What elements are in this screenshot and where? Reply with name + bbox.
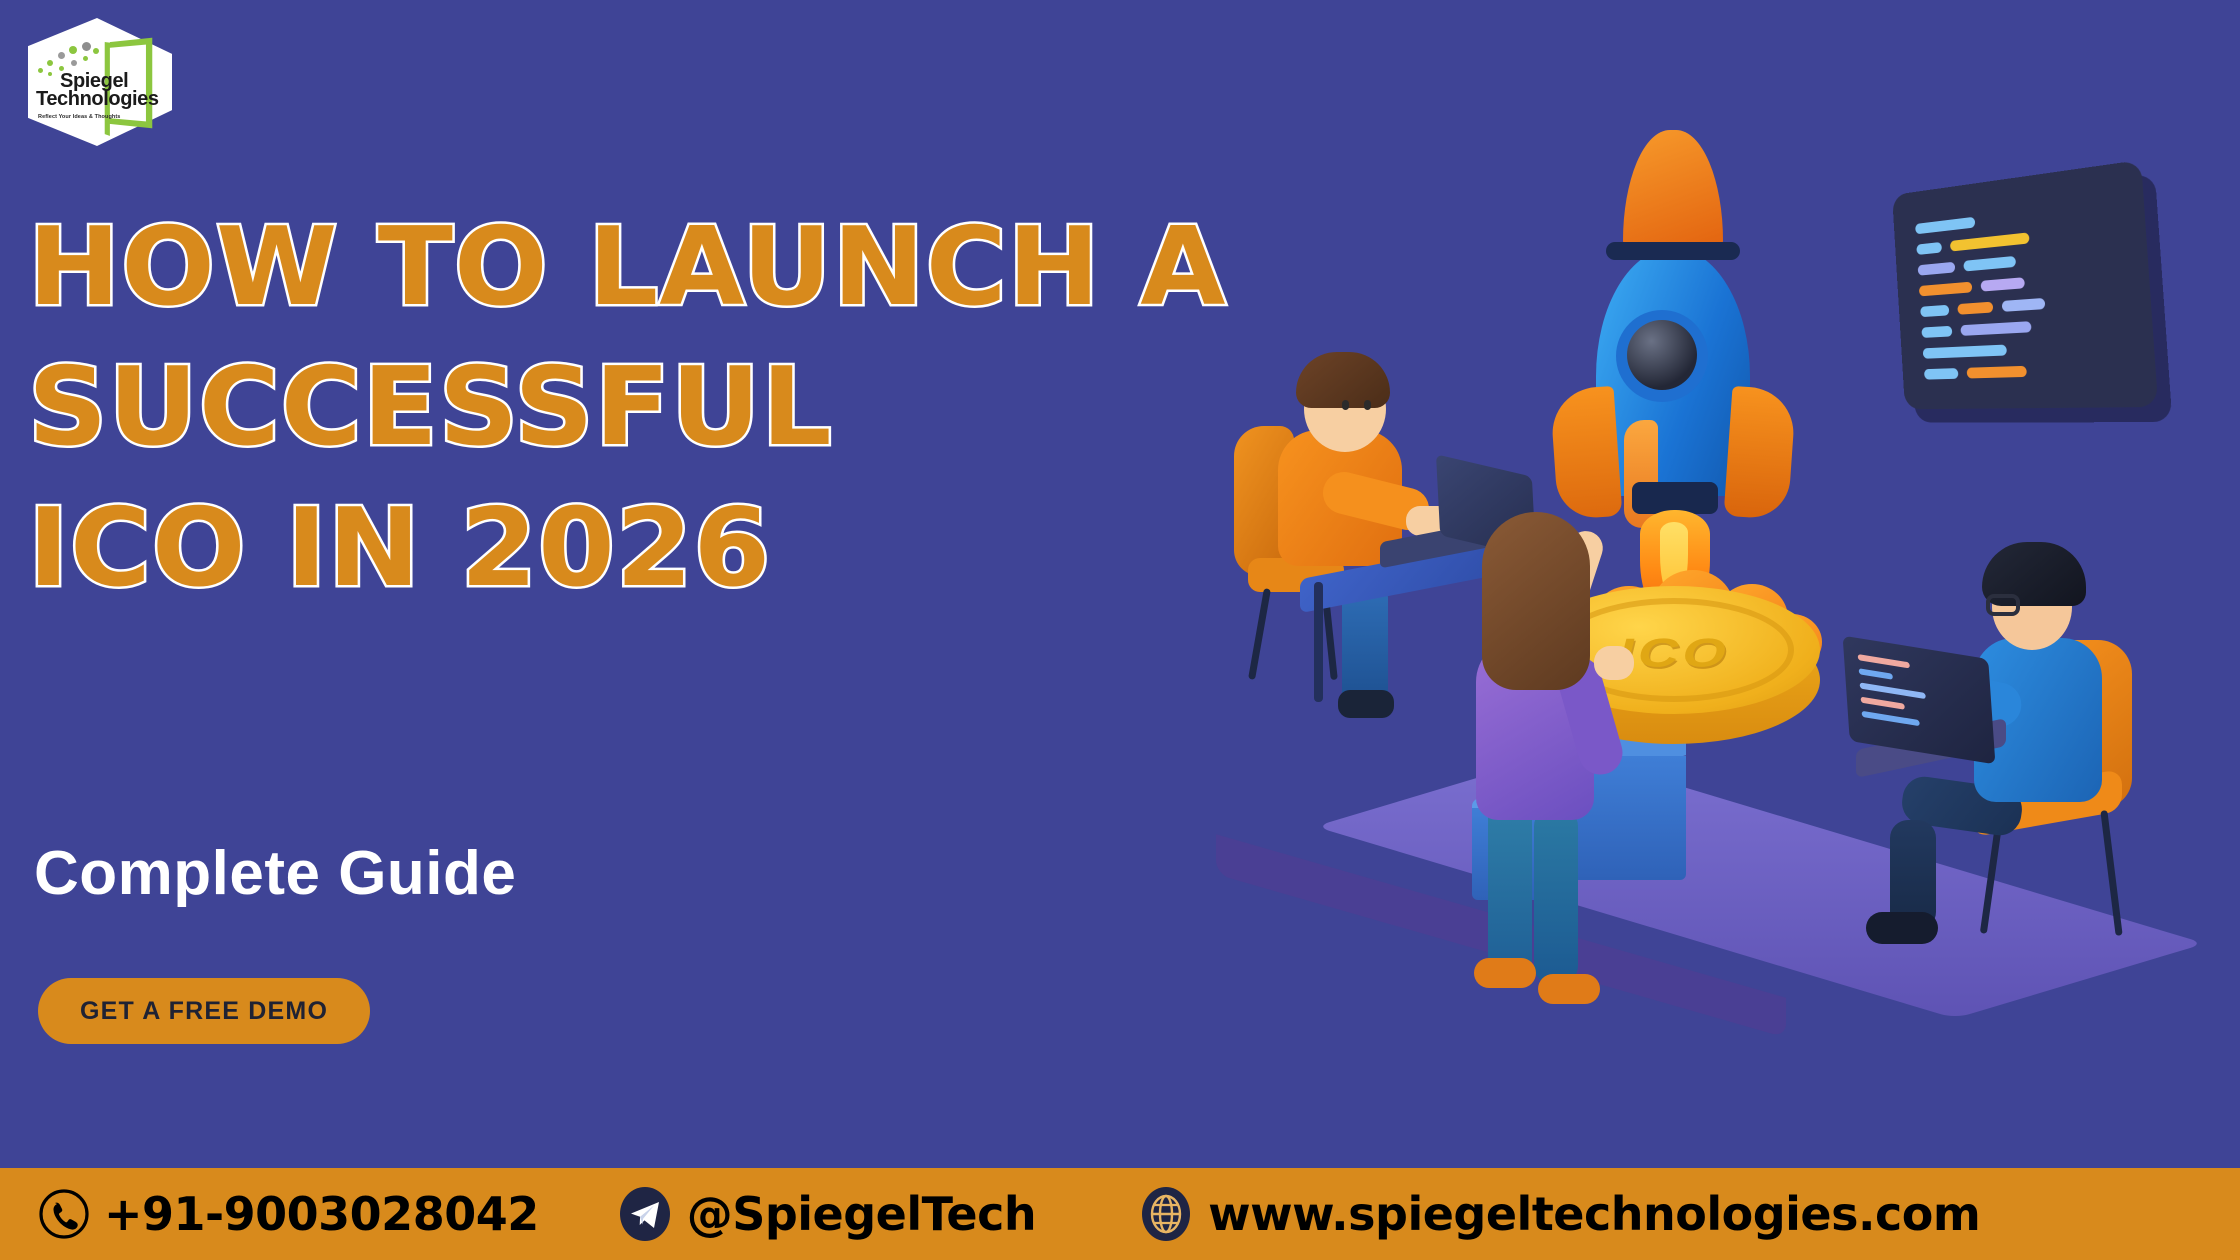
- person-hand-pointing: [1594, 646, 1634, 680]
- person-leg-right: [1534, 808, 1578, 984]
- chair-leg: [2100, 810, 2122, 936]
- rocket-porthole-glass: [1627, 320, 1697, 390]
- person-developer-blue: [1840, 520, 2180, 990]
- contact-phone[interactable]: +91-9003028042: [38, 1187, 539, 1241]
- rocket-collar: [1606, 242, 1740, 260]
- headline-line-2: SUCCESSFUL: [28, 338, 1109, 478]
- code-panel-icon: [1892, 160, 2158, 409]
- rocket-icon: [1548, 130, 1798, 550]
- telegram-icon: [617, 1186, 673, 1242]
- phone-number: +91-9003028042: [104, 1187, 539, 1241]
- hero-subtitle: Complete Guide: [34, 838, 516, 909]
- person-leg-left: [1488, 798, 1532, 978]
- glasses-icon: [1986, 594, 2020, 616]
- logo-name-line2: Technologies: [36, 90, 148, 108]
- person-woman-standing: [1442, 488, 1642, 1048]
- person-eye: [1364, 400, 1371, 410]
- hero-headline: HOW TO LAUNCH A SUCCESSFUL ICO IN 2026: [28, 198, 1088, 619]
- telegram-handle: @SpiegelTech: [687, 1187, 1036, 1241]
- person-shoe-left: [1474, 958, 1536, 988]
- logo-wordmark: Spiegel Technologies: [36, 72, 148, 109]
- brand-logo[interactable]: Spiegel Technologies Reflect Your Ideas …: [22, 18, 172, 146]
- get-free-demo-button[interactable]: GET A FREE DEMO: [38, 978, 370, 1044]
- headline-line-1: HOW TO LAUNCH A: [28, 198, 1109, 338]
- rocket-nose-cone: [1623, 130, 1723, 252]
- person-eye: [1342, 400, 1349, 410]
- website-url: www.spiegeltechnologies.com: [1208, 1187, 1980, 1241]
- person-shoe: [1866, 912, 1938, 944]
- contact-telegram[interactable]: @SpiegelTech: [617, 1186, 1036, 1242]
- person-shoe: [1338, 690, 1394, 718]
- ico-launch-illustration: ICO: [1180, 120, 2220, 1120]
- person-shoe-right: [1538, 974, 1600, 1004]
- chair-leg: [1248, 588, 1271, 680]
- contact-bar: +91-9003028042 @SpiegelTech www.spiegelt…: [0, 1168, 2240, 1260]
- person-hair: [1482, 512, 1590, 690]
- logo-tagline: Reflect Your Ideas & Thoughts: [38, 114, 150, 120]
- headline-line-3: ICO IN 2026: [28, 479, 1109, 619]
- globe-icon: [1138, 1186, 1194, 1242]
- rocket-fin-right: [1724, 386, 1797, 520]
- laptop-screen: [1843, 636, 1996, 765]
- contact-website[interactable]: www.spiegeltechnologies.com: [1138, 1186, 1980, 1242]
- phone-circle-icon: [38, 1188, 90, 1240]
- desk-leg: [1314, 582, 1323, 702]
